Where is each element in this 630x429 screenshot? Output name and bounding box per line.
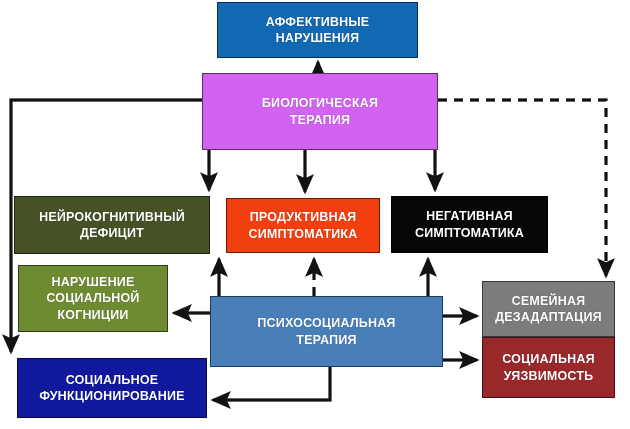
negative-symptoms-box-label-line: НЕГАТИВНАЯ: [396, 208, 543, 225]
social-cognition-impairment-box-label-line: НАРУШЕНИЕ: [23, 274, 163, 291]
social-functioning-box-label-line: ФУНКЦИОНИРОВАНИЕ: [22, 388, 202, 405]
neurocognitive-deficit-box-label-line: ДЕФИЦИТ: [19, 225, 205, 242]
productive-symptoms-box-label: ПРОДУКТИВНАЯСИМПТОМАТИКА: [231, 209, 375, 242]
affective-disorders-box-label-line: АФФЕКТИВНЫЕ: [222, 14, 413, 31]
social-cognition-impairment-box-label: НАРУШЕНИЕСОЦИАЛЬНОЙКОГНИЦИИ: [23, 274, 163, 324]
psychosocial-therapy-box-label-line: ТЕРАПИЯ: [215, 332, 438, 349]
social-vulnerability-box-label: СОЦИАЛЬНАЯУЯЗВИМОСТЬ: [487, 351, 610, 384]
neurocognitive-deficit-box-label: НЕЙРОКОГНИТИВНЫЙДЕФИЦИТ: [19, 209, 205, 242]
family-maladaptation-box-label: СЕМЕЙНАЯДЕЗАДАПТАЦИЯ: [487, 293, 610, 326]
social-vulnerability-box[interactable]: СОЦИАЛЬНАЯУЯЗВИМОСТЬ: [482, 337, 615, 398]
social-functioning-box-label: СОЦИАЛЬНОЕФУНКЦИОНИРОВАНИЕ: [22, 372, 202, 405]
social-vulnerability-box-label-line: УЯЗВИМОСТЬ: [487, 368, 610, 385]
family-maladaptation-box[interactable]: СЕМЕЙНАЯДЕЗАДАПТАЦИЯ: [482, 281, 615, 337]
productive-symptoms-box-label-line: ПРОДУКТИВНАЯ: [231, 209, 375, 226]
social-functioning-box-label-line: СОЦИАЛЬНОЕ: [22, 372, 202, 389]
psychosocial-therapy-box[interactable]: ПСИХОСОЦИАЛЬНАЯТЕРАПИЯ: [210, 296, 443, 367]
biological-therapy-box[interactable]: БИОЛОГИЧЕСКАЯТЕРАПИЯ: [202, 73, 438, 150]
diagram-canvas: АФФЕКТИВНЫЕНАРУШЕНИЯБИОЛОГИЧЕСКАЯТЕРАПИЯ…: [0, 0, 630, 429]
biological-therapy-box-label-line: ТЕРАПИЯ: [207, 112, 433, 129]
biological-therapy-box-label-line: БИОЛОГИЧЕСКАЯ: [207, 95, 433, 112]
connector-psychosocial-to-social-functioning: [213, 367, 330, 400]
biological-therapy-box-label: БИОЛОГИЧЕСКАЯТЕРАПИЯ: [207, 95, 433, 128]
psychosocial-therapy-box-label: ПСИХОСОЦИАЛЬНАЯТЕРАПИЯ: [215, 315, 438, 348]
neurocognitive-deficit-box[interactable]: НЕЙРОКОГНИТИВНЫЙДЕФИЦИТ: [14, 196, 210, 254]
affective-disorders-box-label-line: НАРУШЕНИЯ: [222, 30, 413, 47]
affective-disorders-box[interactable]: АФФЕКТИВНЫЕНАРУШЕНИЯ: [217, 2, 418, 58]
negative-symptoms-box[interactable]: НЕГАТИВНАЯСИМПТОМАТИКА: [391, 196, 548, 253]
psychosocial-therapy-box-label-line: ПСИХОСОЦИАЛЬНАЯ: [215, 315, 438, 332]
social-cognition-impairment-box[interactable]: НАРУШЕНИЕСОЦИАЛЬНОЙКОГНИЦИИ: [18, 265, 168, 332]
negative-symptoms-box-label: НЕГАТИВНАЯСИМПТОМАТИКА: [396, 208, 543, 241]
family-maladaptation-box-label-line: СЕМЕЙНАЯ: [487, 293, 610, 310]
social-vulnerability-box-label-line: СОЦИАЛЬНАЯ: [487, 351, 610, 368]
productive-symptoms-box-label-line: СИМПТОМАТИКА: [231, 226, 375, 243]
social-cognition-impairment-box-label-line: КОГНИЦИИ: [23, 307, 163, 324]
social-cognition-impairment-box-label-line: СОЦИАЛЬНОЙ: [23, 290, 163, 307]
family-maladaptation-box-label-line: ДЕЗАДАПТАЦИЯ: [487, 309, 610, 326]
negative-symptoms-box-label-line: СИМПТОМАТИКА: [396, 225, 543, 242]
productive-symptoms-box[interactable]: ПРОДУКТИВНАЯСИМПТОМАТИКА: [226, 198, 380, 253]
social-functioning-box[interactable]: СОЦИАЛЬНОЕФУНКЦИОНИРОВАНИЕ: [17, 358, 207, 418]
neurocognitive-deficit-box-label-line: НЕЙРОКОГНИТИВНЫЙ: [19, 209, 205, 226]
affective-disorders-box-label: АФФЕКТИВНЫЕНАРУШЕНИЯ: [222, 14, 413, 47]
